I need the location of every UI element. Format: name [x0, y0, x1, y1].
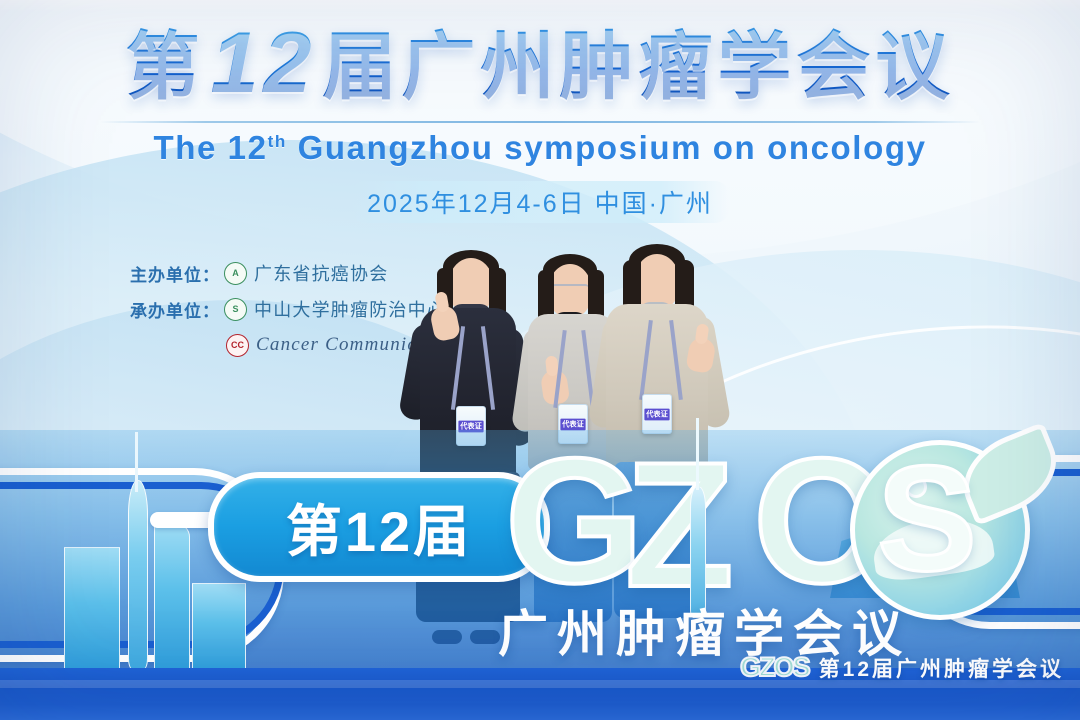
- glasses-icon: [551, 284, 589, 296]
- title-en-prefix: The 12: [153, 129, 267, 166]
- backdrop-title-block: 第 12 届广州肿瘤学会议 The 12th Guangzhou symposi…: [0, 16, 1080, 223]
- bottom-strip: GZOS 第12届广州肿瘤学会议: [740, 652, 1064, 683]
- conference-date-location: 2025年12月4-6日 中国·广州: [351, 181, 729, 223]
- title-en-rest: Guangzhou symposium on oncology: [287, 129, 927, 166]
- bottom-strip-text: 第12届广州肿瘤学会议: [819, 653, 1064, 683]
- organizer-label-host: 主办单位：: [130, 261, 220, 286]
- cancer-communications-seal-icon: CC: [226, 334, 249, 357]
- logo-letter-s: S: [877, 458, 977, 578]
- edition-badge-pill: 第12届: [208, 472, 550, 582]
- title-cn-part-2: 届广州肿瘤学会议: [322, 26, 954, 107]
- logo-letter-g: G: [505, 432, 643, 610]
- canton-tower-model-spire: [696, 418, 699, 490]
- title-divider-rule: [100, 121, 980, 123]
- title-cn-edition-number: 12: [207, 16, 321, 111]
- logo-letter-z: Z: [625, 436, 734, 614]
- canton-tower-spire: [135, 432, 138, 492]
- title-en-ordinal-suffix: th: [268, 132, 287, 151]
- delegate-pass-text: 代表证: [644, 408, 669, 420]
- conference-photo: 第 12 届广州肿瘤学会议 The 12th Guangzhou symposi…: [0, 0, 1080, 720]
- bottom-strip-logo-mark: GZOS: [740, 652, 809, 683]
- title-cn-part-1: 第: [126, 26, 205, 107]
- building-1: [64, 547, 120, 670]
- top-edge-fade: [0, 0, 1080, 12]
- conference-title-cn: 第 12 届广州肿瘤学会议: [0, 16, 1080, 111]
- organizer-name-host: 广东省抗癌协会: [254, 260, 388, 286]
- canton-tower: [128, 480, 148, 670]
- conference-title-en: The 12th Guangzhou symposium on oncology: [0, 129, 1080, 167]
- edition-badge-text: 第12届: [286, 487, 472, 568]
- gaca-seal-icon: A: [224, 262, 247, 285]
- organizer-label-coorganizer: 承办单位：: [130, 297, 220, 322]
- building-3: [192, 583, 246, 670]
- building-2: [154, 523, 190, 670]
- sysucc-seal-icon: S: [224, 298, 247, 321]
